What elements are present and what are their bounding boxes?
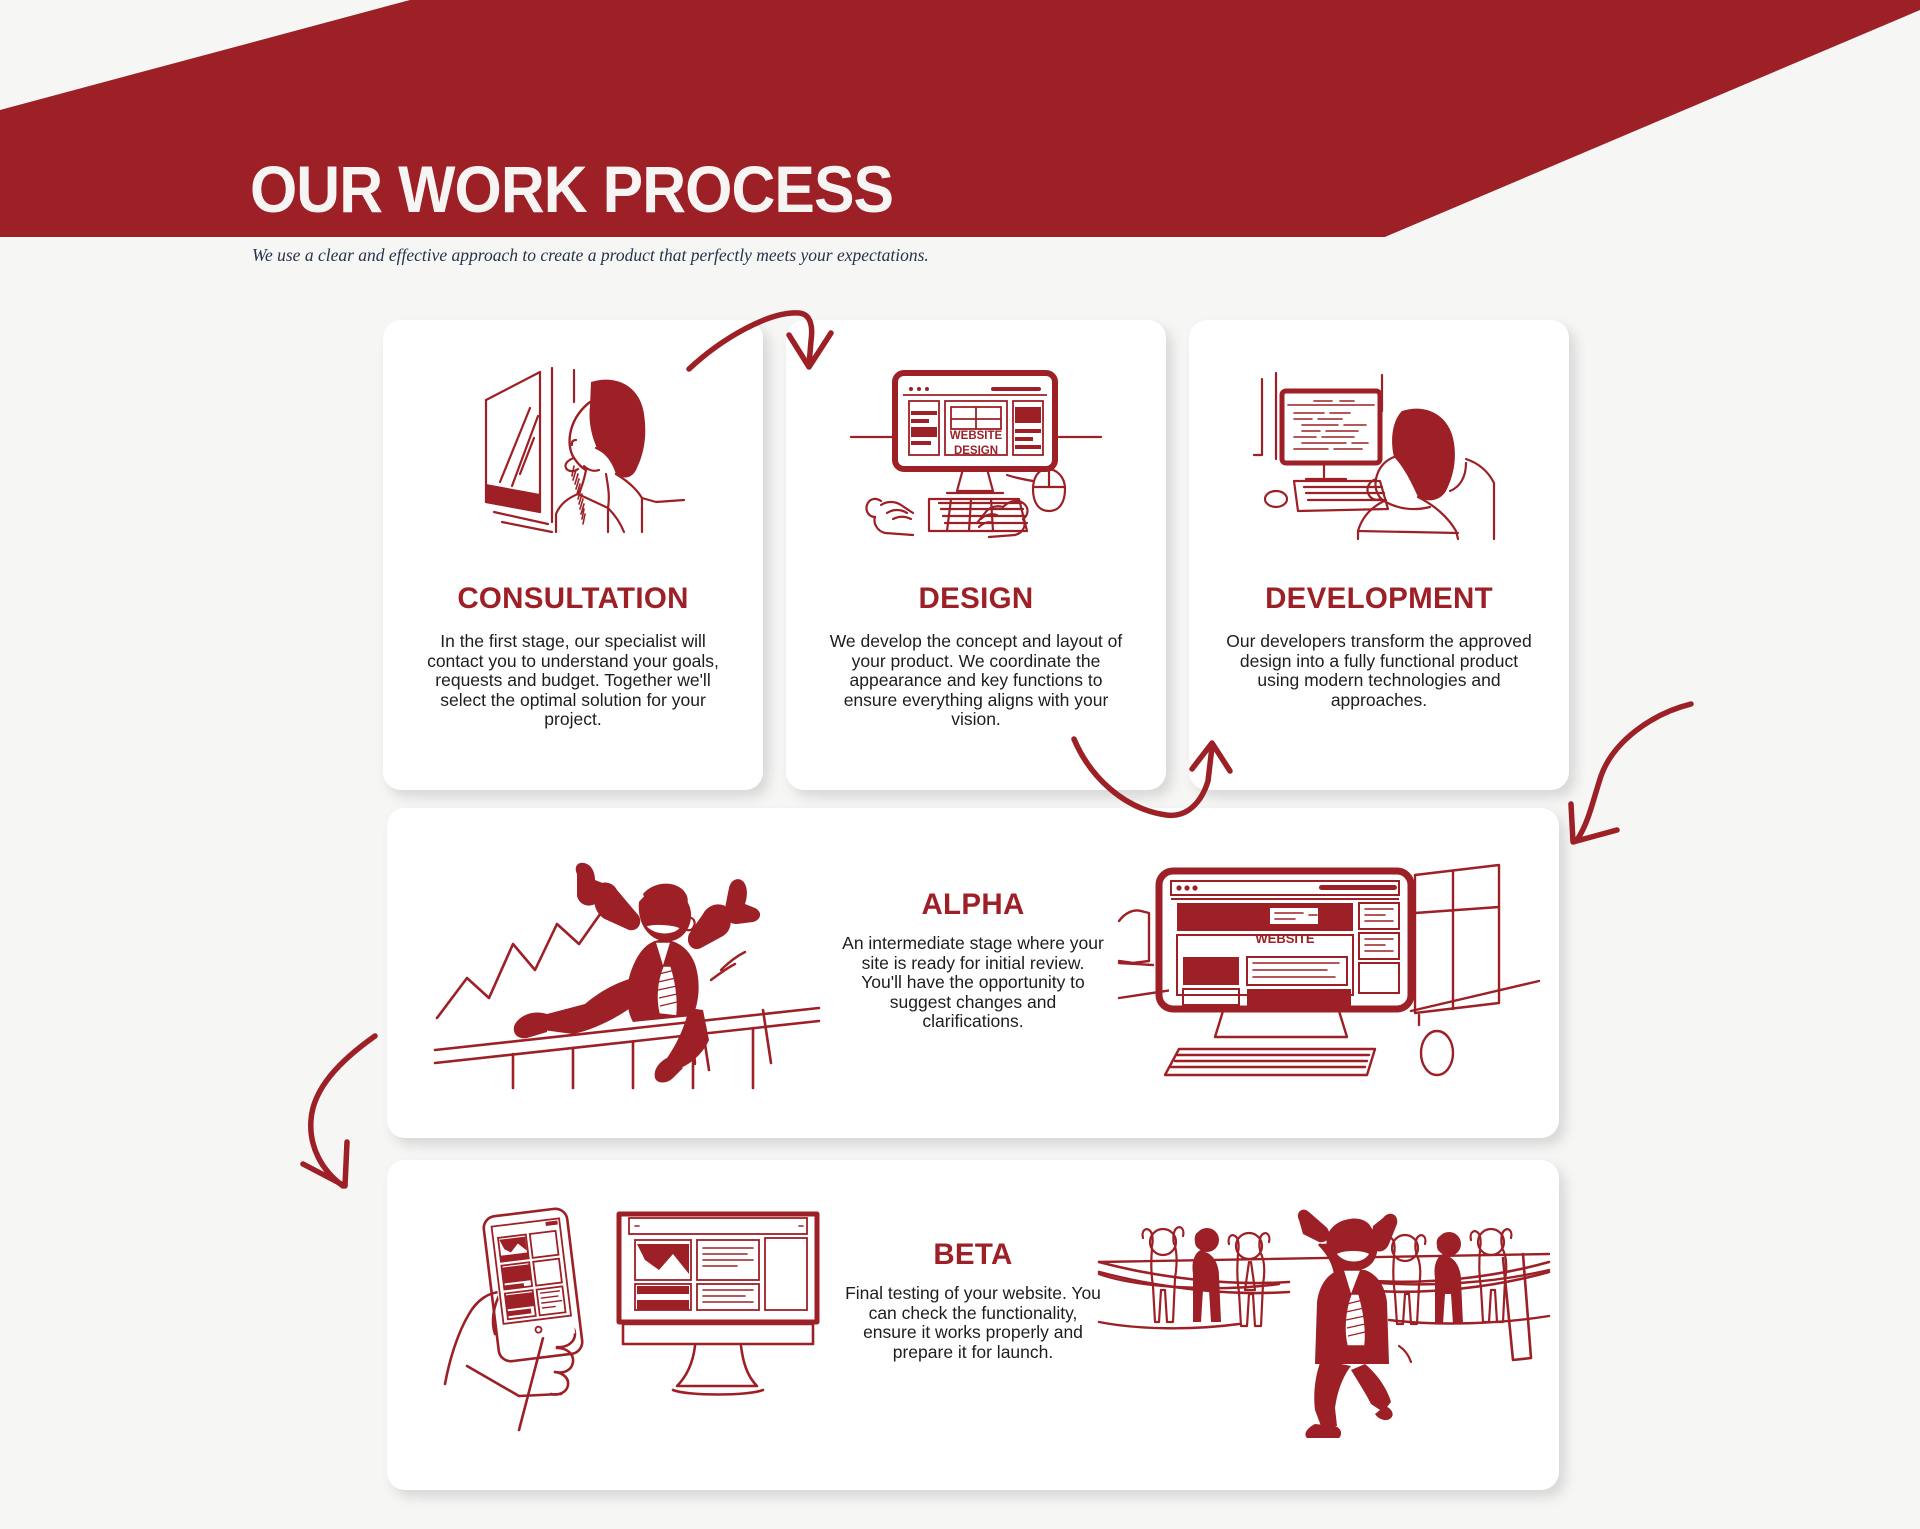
arrow-consultation-to-design xyxy=(685,303,845,383)
arrow-development-to-alpha xyxy=(1555,700,1695,860)
step-card-design[interactable]: WEBSITE DESIGN xyxy=(786,320,1166,790)
card-body-alpha: An intermediate stage where your site is… xyxy=(842,934,1104,1032)
step-card-alpha[interactable]: ALPHA An intermediate stage where your s… xyxy=(387,808,1559,1138)
step-card-beta[interactable]: BETA Final testing of your website. You … xyxy=(387,1160,1559,1490)
illustration-label-website: WEBSITE xyxy=(950,430,1003,442)
page-subtitle: We use a clear and effective approach to… xyxy=(252,245,929,266)
infographic-page: OUR WORK PROCESS We use a clear and effe… xyxy=(0,0,1920,1529)
card-text-alpha: ALPHA An intermediate stage where your s… xyxy=(828,808,1118,1138)
card-title-consultation: CONSULTATION xyxy=(383,582,763,616)
developer-coding-at-monitor-icon xyxy=(1189,354,1569,544)
businessman-thumbs-up-jumping-chart-icon xyxy=(427,858,827,1088)
header-banner: OUR WORK PROCESS We use a clear and effe… xyxy=(0,0,1920,245)
page-title: OUR WORK PROCESS xyxy=(250,156,893,222)
card-title-alpha: ALPHA xyxy=(828,888,1118,922)
card-body-design: We develop the concept and layout of you… xyxy=(822,632,1130,730)
card-body-consultation: In the first stage, our specialist will … xyxy=(419,632,727,730)
arrow-alpha-to-beta xyxy=(285,1030,425,1200)
card-title-design: DESIGN xyxy=(786,582,1166,616)
desktop-website-mockup-icon: WEBSITE xyxy=(1119,853,1539,1093)
card-title-beta: BETA xyxy=(828,1238,1118,1272)
card-body-beta: Final testing of your website. You can c… xyxy=(842,1284,1104,1362)
arrow-design-to-development xyxy=(1070,735,1240,825)
businessman-crossing-finish-line-crowd-icon xyxy=(1099,1218,1549,1438)
step-card-consultation[interactable]: CONSULTATION In the first stage, our spe… xyxy=(383,320,763,790)
hand-phone-and-monitor-responsive-icon xyxy=(447,1220,837,1430)
step-card-development[interactable]: DEVELOPMENT Our developers transform the… xyxy=(1189,320,1569,790)
illustration-label-design: DESIGN xyxy=(954,445,998,457)
card-title-development: DEVELOPMENT xyxy=(1189,582,1569,616)
card-text-beta: BETA Final testing of your website. You … xyxy=(828,1160,1118,1490)
card-body-development: Our developers transform the approved de… xyxy=(1225,632,1533,710)
illustration-label-website: WEBSITE xyxy=(1255,931,1315,946)
